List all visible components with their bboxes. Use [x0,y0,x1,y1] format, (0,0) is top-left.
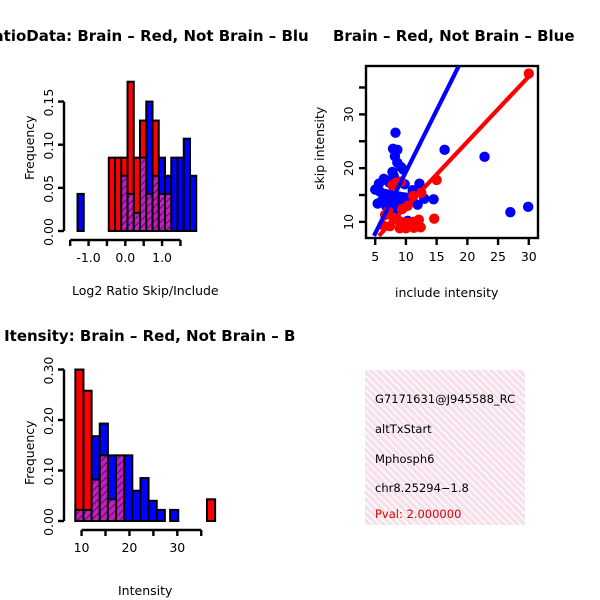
bar-rect [207,499,215,521]
histogram-bar [100,455,108,521]
y-tick-label: 0.00 [41,508,56,536]
probe-report-box: G7171631@J945588_RC altTxStart Mphosph6 … [365,370,525,525]
bar-rect [83,391,91,521]
ratio-histogram-svg: 0.000.050.100.15-1.00.01.0 [0,0,300,300]
x-tick-label: -1.0 [76,250,100,265]
scatter-point [415,222,425,232]
report-probe-id: G7171631@J945588_RC [375,392,515,406]
scatter-point [390,127,400,137]
y-tick-label: 0.10 [41,458,56,486]
bar-rect [108,499,116,521]
histogram-bar [108,499,116,521]
histogram-bar [157,510,165,521]
bar-rect [92,480,100,521]
bar-rect [75,370,83,521]
scatter-plot-panel: Brain – Red, Not Brain – Blue skip inten… [300,0,600,300]
bar-rect [75,510,83,521]
y-tick-label: 10 [341,214,356,230]
histogram-bar [165,194,171,231]
histogram-bar [132,491,140,521]
bar-rect [140,478,148,521]
y-tick-label: 0.30 [41,357,56,385]
y-tick-label: 0.10 [41,132,56,160]
scatter-point [479,152,489,162]
bar-rect [83,510,91,521]
bar-rect [132,491,140,521]
bar-rect [170,510,178,521]
intensity-histogram-svg: 0.000.100.200.30102030 [0,300,300,600]
y-tick-label: 0.20 [41,407,56,435]
histogram-bar [149,501,157,521]
bar-rect [124,455,132,521]
x-tick-label: 20 [459,249,475,264]
report-event-type: altTxStart [375,422,432,436]
histogram-bar [75,370,83,521]
histogram-bar [92,480,100,521]
bar-rect [78,194,84,231]
histogram-bar [116,455,124,521]
scatter-point [429,213,439,223]
bar-rect [157,510,165,521]
x-tick-label: 25 [490,249,506,264]
x-tick-label: 10 [74,540,90,555]
x-tick-label: 30 [169,540,185,555]
histogram-bar [83,510,91,521]
y-tick-label: 30 [341,106,356,122]
scatter-point [523,202,533,212]
bar-rect [100,455,108,521]
y-tick-label: 0.00 [41,218,56,246]
scatter-content [370,66,534,236]
histogram-bar [78,194,84,231]
histogram-bar [170,510,178,521]
x-tick-label: 30 [521,249,537,264]
report-pval: Pval: 2.000000 [375,507,461,521]
bar-rect [149,501,157,521]
y-tick-label: 20 [341,160,356,176]
histogram-bar [83,391,91,521]
histogram-bar [207,499,215,521]
ratio-histogram-panel: RatioData: Brain – Red, Not Brain – Blu … [0,0,300,300]
x-tick-label: 5 [371,249,379,264]
scatter-point [505,207,515,217]
bar-rect [165,194,171,231]
histogram-bar [140,478,148,521]
y-tick-label: 0.15 [41,89,56,117]
histogram-bar [124,455,132,521]
bar-rect [116,455,124,521]
histogram-bar [75,510,83,521]
bar-rect [190,176,196,231]
intensity-histogram-panel: ne Itensity: Brain – Red, Not Brain – B … [0,300,300,600]
scatter-plot-svg: 10203051015202530 [300,0,600,300]
x-tick-label: 20 [121,540,137,555]
scatter-point [439,145,449,155]
x-tick-label: 10 [398,249,414,264]
report-locus: chr8.25294−1.8 [375,481,469,495]
report-gene: Mphosph6 [375,452,434,466]
x-tick-label: 0.0 [115,250,135,265]
histogram-bar [190,176,196,231]
scatter-point [428,194,438,204]
x-tick-label: 1.0 [152,250,172,265]
y-tick-label: 0.05 [41,175,56,203]
x-tick-label: 15 [429,249,445,264]
